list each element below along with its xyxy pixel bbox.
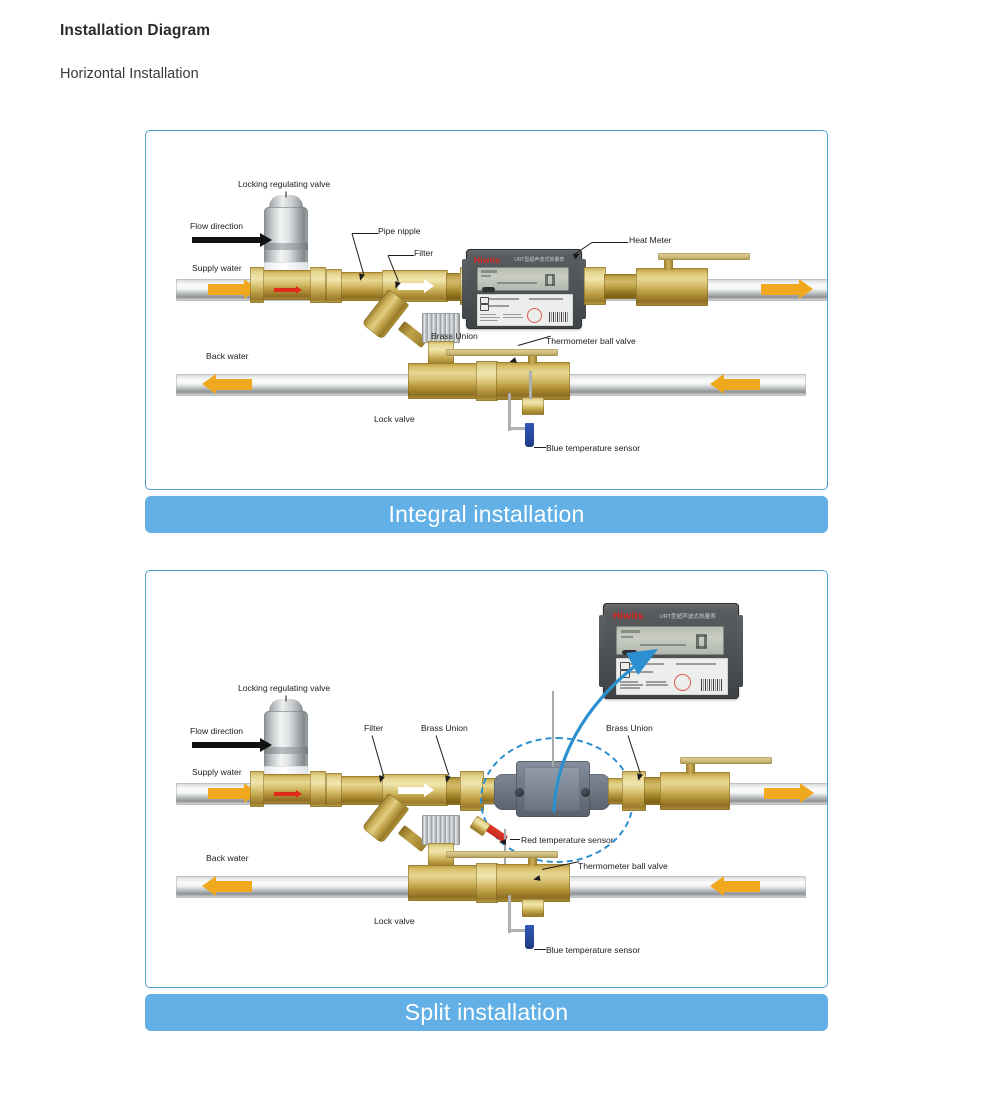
split-label-thermometer-ball-valve: Thermometer ball valve [578, 861, 668, 871]
detached-label-ring [674, 674, 691, 691]
split-label-filter: Filter [364, 723, 383, 733]
label-heat-meter: Heat Meter [629, 235, 672, 245]
lock-valve-body [408, 363, 480, 399]
heat-meter-label [477, 294, 573, 326]
label-line-6 [480, 320, 498, 321]
label-flow-direction: Flow direction [190, 221, 243, 231]
lock-valve-union [476, 361, 498, 401]
label-line-3 [529, 298, 563, 300]
label-line-2 [489, 305, 509, 307]
blue-sensor-cable [508, 393, 511, 431]
leader-pipe-nipple-h [352, 233, 378, 234]
ball-valve-stem [664, 259, 673, 270]
split-sensor-port [522, 899, 544, 917]
ball-valve-lever [658, 253, 750, 260]
label-filter: Filter [414, 248, 433, 258]
pipe-nipple-collar [326, 269, 342, 303]
split-leader-head-red-sensor [499, 839, 506, 845]
split-label-blue-temperature-sensor: Blue temperature sensor [546, 945, 640, 955]
split-label-brass-union-left: Brass Union [421, 723, 468, 733]
split-label-back-water: Back water [206, 853, 249, 863]
supply-flow-arrow-right [761, 284, 799, 295]
split-supply-valve-stem [686, 763, 695, 774]
label-locking-regulating-valve: Locking regulating valve [238, 179, 330, 189]
detached-label-line-4 [620, 681, 638, 683]
heat-meter-model: URT型超声波式热量表 [514, 256, 564, 263]
split-label-flow-direction: Flow direction [190, 726, 243, 736]
split-locking-valve-flow-mark [274, 792, 296, 796]
split-supply-flow-arrow [208, 788, 244, 799]
locking-valve-nut-left [250, 267, 264, 303]
heat-meter-button[interactable] [482, 287, 495, 292]
split-label-supply-water: Supply water [192, 767, 242, 777]
lcd-indicator-2 [481, 275, 491, 277]
split-supply-valve-lever [680, 757, 772, 764]
split-locking-valve-nut-left [250, 771, 264, 807]
split-locking-valve-base [256, 774, 318, 804]
lcd-digit-seg-4 [545, 284, 555, 286]
locking-valve-flow-mark [274, 288, 296, 292]
split-label-red-temperature-sensor: Red temperature sensor [521, 835, 614, 845]
detached-label-line-2 [630, 671, 653, 673]
split-filter-flow-arrow [398, 787, 424, 794]
split-leader-brass-union-left [436, 735, 450, 775]
split-pipe-nipple-collar [326, 773, 342, 807]
split-leader-red-sensor [510, 839, 520, 840]
heat-meter-brand-row: Hiwits URT型超声波式热量表 [474, 254, 574, 265]
split-leader-blue-sensor [534, 949, 546, 950]
leader-heat-meter-h [592, 242, 628, 243]
detached-meter-ear-left [599, 615, 605, 687]
detached-label-line-5 [620, 684, 643, 686]
label-lock-valve: Lock valve [374, 414, 415, 424]
return-ball-valve-lever [446, 349, 558, 356]
label-line-7 [503, 314, 521, 315]
split-supply-ball-valve [660, 772, 730, 810]
split-leader-brass-union-right [628, 735, 641, 773]
page-title: Installation Diagram [60, 22, 210, 40]
label-brass-union: Brass Union [431, 331, 478, 341]
flow-direction-arrow [192, 237, 260, 243]
split-label-locking-regulating-valve: Locking regulating valve [238, 683, 330, 693]
brass-union-outlet-thread [604, 274, 638, 299]
label-supply-water: Supply water [192, 263, 242, 273]
heat-meter-detached: Hiwits URT型超声波式热量表 [603, 603, 739, 699]
blue-temperature-sensor [525, 423, 534, 447]
leader-pipe-nipple-d [352, 233, 365, 274]
detached-meter-label [616, 658, 728, 695]
detached-label-ce-2 [620, 670, 630, 678]
locking-valve-nut-right [310, 267, 326, 303]
scene-split: Hiwits URT型超声波式热量表 [146, 571, 827, 987]
detached-meter-model: URT型超声波式热量表 [660, 612, 716, 620]
split-leader-filter [372, 735, 385, 776]
split-leader-locking-valve [286, 696, 287, 702]
split-return-flow-arrow [216, 881, 252, 892]
heat-meter: Hiwits URT型超声波式热量表 [466, 249, 582, 329]
detached-lcd-indicator-2 [621, 636, 633, 638]
locking-valve-base [256, 270, 318, 300]
label-barcode [549, 312, 569, 322]
split-label-lock-valve: Lock valve [374, 916, 415, 926]
label-blue-temperature-sensor: Blue temperature sensor [546, 443, 640, 453]
detached-label-line-7 [646, 681, 666, 683]
diagram-panel-split: Hiwits URT型超声波式热量表 [145, 570, 828, 988]
leader-filter-h [388, 255, 414, 256]
detached-label-line-3 [676, 663, 716, 665]
heat-meter-brand: Hiwits [474, 255, 500, 265]
diagram-panel-integral: Hiwits URT型超声波式热量表 [145, 130, 828, 490]
label-back-water: Back water [206, 351, 249, 361]
label-ce-mark-2 [480, 304, 489, 311]
detached-label-barcode [701, 679, 723, 691]
filter-flow-arrow [398, 283, 424, 290]
sensor-signal-wire [552, 691, 554, 767]
page-subtitle: Horizontal Installation [60, 66, 199, 82]
split-blue-sensor-cable [508, 895, 511, 933]
brass-union-outlet [584, 267, 606, 305]
split-lock-valve-union [476, 863, 498, 903]
caption-split-installation: Split installation [145, 994, 828, 1031]
label-pipe-nipple: Pipe nipple [378, 226, 421, 236]
thermometer-ball-valve [636, 268, 708, 306]
return-flow-arrow-right [724, 379, 760, 390]
label-line-1 [489, 298, 519, 300]
detached-label-ce-1 [620, 662, 630, 670]
split-label-brass-union-right: Brass Union [606, 723, 653, 733]
label-line-5 [480, 317, 500, 318]
caption-integral-installation: Integral installation [145, 496, 828, 533]
heat-meter-ear-left [462, 259, 468, 319]
split-blue-temperature-sensor [525, 925, 534, 949]
sensor-port [522, 397, 544, 415]
label-thermometer-ball-valve: Thermometer ball valve [546, 336, 636, 346]
lcd-baseline [497, 282, 537, 284]
split-return-valve-lever [446, 851, 558, 858]
leader-blue-sensor [534, 447, 546, 448]
detached-label-line-1 [630, 663, 664, 665]
detached-lcd-baseline [640, 644, 686, 646]
lcd-indicator-1 [481, 270, 497, 273]
return-flow-arrow [216, 379, 252, 390]
supply-flow-arrow [208, 284, 244, 295]
split-supply-flow-arrow-right [764, 788, 800, 799]
split-brass-union-right [622, 771, 646, 811]
label-line-4 [480, 314, 496, 315]
detached-lcd-indicator-1 [621, 630, 640, 633]
detached-meter-brand-row: Hiwits URT型超声波式热量表 [613, 610, 731, 622]
detached-meter-ear-right [737, 615, 743, 687]
split-lock-valve-body [408, 865, 480, 901]
split-flow-direction-arrow [192, 742, 260, 748]
meter-sensor-wire [529, 371, 532, 399]
figure-split-installation: Hiwits URT型超声波式热量表 [145, 570, 828, 1031]
leader-locking-valve [286, 192, 287, 198]
detached-lcd-seg-4 [696, 646, 707, 649]
split-lock-valve-cap [422, 815, 460, 845]
scene-integral: Hiwits URT型超声波式热量表 [146, 131, 827, 489]
detached-meter-brand: Hiwits [613, 611, 644, 622]
label-ce-mark-1 [480, 297, 489, 304]
detached-label-line-8 [646, 684, 668, 686]
split-return-flow-arrow-right [724, 881, 760, 892]
label-line-8 [503, 317, 523, 318]
detached-meter-button[interactable] [622, 650, 637, 655]
detached-label-line-6 [620, 687, 640, 689]
split-locking-valve-nut-right [310, 771, 326, 807]
figure-integral-installation: Hiwits URT型超声波式热量表 [145, 130, 828, 533]
detached-lcd-seg-3 [696, 634, 707, 637]
label-verification-ring [527, 308, 542, 323]
